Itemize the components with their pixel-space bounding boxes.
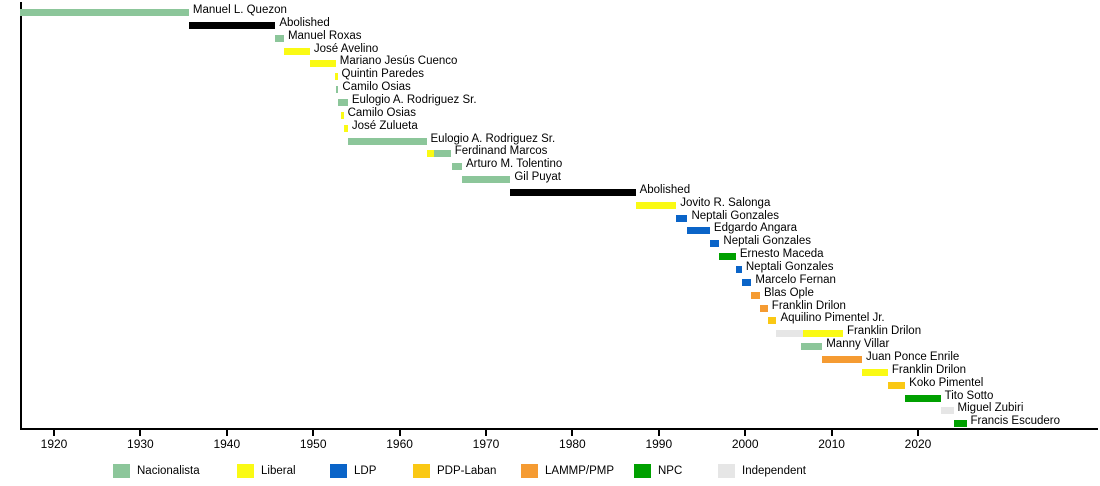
- senate-presidents-timeline-chart: Manuel L. QuezonAbolishedManuel RoxasJos…: [0, 0, 1100, 486]
- timeline-bar-row[interactable]: Manuel Roxas: [22, 32, 1098, 45]
- timeline-bar-segment[interactable]: [801, 343, 823, 350]
- x-axis-tick: [571, 430, 573, 436]
- legend-item[interactable]: LAMMP/PMP: [521, 462, 614, 480]
- timeline-bar-segment[interactable]: [452, 163, 462, 170]
- x-axis-tick: [831, 430, 833, 436]
- timeline-bar-segment[interactable]: [189, 22, 275, 29]
- legend-label: LAMMP/PMP: [545, 465, 614, 477]
- timeline-bar-segment[interactable]: [336, 86, 339, 93]
- timeline-bar-label: Franklin Drilon: [772, 300, 846, 313]
- legend-item[interactable]: LDP: [330, 462, 376, 480]
- timeline-bar-segment[interactable]: [275, 35, 284, 42]
- timeline-bar-segment[interactable]: [736, 266, 742, 273]
- x-axis-tick: [226, 430, 228, 436]
- legend-item[interactable]: Liberal: [237, 462, 296, 480]
- timeline-bar-label: Francis Escudero: [971, 415, 1060, 428]
- legend-label: PDP-Laban: [437, 465, 496, 477]
- timeline-bar-row[interactable]: Marcelo Fernan: [22, 276, 1098, 289]
- timeline-bar-segment[interactable]: [941, 407, 954, 414]
- timeline-bar-segment[interactable]: [768, 317, 777, 324]
- timeline-bar-segment[interactable]: [348, 138, 427, 145]
- timeline-bar-row[interactable]: Manuel L. Quezon: [22, 6, 1098, 19]
- timeline-bar-segment[interactable]: [954, 420, 967, 427]
- timeline-bar-row[interactable]: José Avelino: [22, 45, 1098, 58]
- timeline-bar-row[interactable]: José Zulueta: [22, 122, 1098, 135]
- legend-color-swatch: [330, 464, 347, 478]
- timeline-bar-label: Franklin Drilon: [892, 364, 966, 377]
- timeline-bar-segment[interactable]: [341, 112, 344, 119]
- timeline-bar-segment[interactable]: [822, 356, 862, 363]
- timeline-bar-segment[interactable]: [284, 48, 310, 55]
- x-axis-tick-label: 1940: [213, 437, 240, 451]
- timeline-bar-segment[interactable]: [710, 240, 720, 247]
- x-axis-tick-label: 1960: [386, 437, 413, 451]
- timeline-bar-row[interactable]: Neptali Gonzales: [22, 263, 1098, 276]
- timeline-bar-segment[interactable]: [862, 369, 888, 376]
- legend-item[interactable]: NPC: [634, 462, 682, 480]
- timeline-bar-row[interactable]: Miguel Zubiri: [22, 404, 1098, 417]
- timeline-bar-row[interactable]: Abolished: [22, 19, 1098, 32]
- timeline-bar-row[interactable]: Camilo Osias: [22, 109, 1098, 122]
- timeline-bar-row[interactable]: Franklin Drilon: [22, 327, 1098, 340]
- timeline-bar-label: Blas Ople: [764, 287, 814, 300]
- legend-color-swatch: [113, 464, 130, 478]
- timeline-bar-label: José Zulueta: [352, 120, 418, 133]
- legend-item[interactable]: Nacionalista: [113, 462, 200, 480]
- timeline-bar-row[interactable]: Gil Puyat: [22, 173, 1098, 186]
- chart-legend: NacionalistaLiberalLDPPDP-LabanLAMMP/PMP…: [0, 462, 1100, 482]
- x-axis-tick-label: 2000: [732, 437, 759, 451]
- timeline-bar-label: José Avelino: [314, 43, 378, 56]
- legend-label: LDP: [354, 465, 376, 477]
- x-axis-tick: [53, 430, 55, 436]
- timeline-bar-row[interactable]: Eulogio A. Rodriguez Sr.: [22, 96, 1098, 109]
- timeline-bar-row[interactable]: Edgardo Angara: [22, 224, 1098, 237]
- timeline-bar-label: Mariano Jesús Cuenco: [340, 55, 458, 68]
- timeline-bar-segment[interactable]: [636, 202, 677, 209]
- timeline-bar-segment[interactable]: [687, 227, 709, 234]
- timeline-bar-label: Manuel L. Quezon: [193, 4, 287, 17]
- timeline-bar-label: Edgardo Angara: [714, 222, 797, 235]
- timeline-bar-row[interactable]: Neptali Gonzales: [22, 212, 1098, 225]
- legend-item[interactable]: Independent: [718, 462, 806, 480]
- timeline-bar-label: Gil Puyat: [514, 171, 561, 184]
- timeline-bar-segment[interactable]: [434, 150, 450, 157]
- plot-area: Manuel L. QuezonAbolishedManuel RoxasJos…: [20, 2, 1098, 430]
- timeline-bar-segment[interactable]: [310, 60, 336, 67]
- timeline-bar-label: Arturo M. Tolentino: [466, 158, 562, 171]
- legend-color-swatch: [634, 464, 651, 478]
- legend-label: NPC: [658, 465, 682, 477]
- x-axis-tick: [658, 430, 660, 436]
- x-axis-tick-label: 1990: [645, 437, 672, 451]
- timeline-bar-segment[interactable]: [344, 125, 348, 132]
- timeline-bar-row[interactable]: Tito Sotto: [22, 392, 1098, 405]
- x-axis-tick-label: 1970: [473, 437, 500, 451]
- legend-item[interactable]: PDP-Laban: [413, 462, 496, 480]
- timeline-bar-label: Manny Villar: [826, 338, 889, 351]
- timeline-bar-label: Manuel Roxas: [288, 30, 362, 43]
- timeline-bar-segment[interactable]: [462, 176, 510, 183]
- timeline-bar-segment[interactable]: [905, 395, 940, 402]
- timeline-bar-row[interactable]: Jovito R. Salonga: [22, 199, 1098, 212]
- timeline-bar-segment[interactable]: [742, 279, 752, 286]
- timeline-bar-label: Juan Ponce Enrile: [866, 351, 959, 364]
- timeline-bar-segment[interactable]: [888, 382, 905, 389]
- timeline-bar-label: Abolished: [279, 17, 330, 30]
- timeline-bar-label: Jovito R. Salonga: [680, 197, 770, 210]
- timeline-bar-label: Miguel Zubiri: [958, 402, 1024, 415]
- timeline-bar-label: Eulogio A. Rodriguez Sr.: [431, 133, 556, 146]
- timeline-bar-row[interactable]: Quintin Paredes: [22, 70, 1098, 83]
- timeline-bar-label: Marcelo Fernan: [755, 274, 836, 287]
- legend-color-swatch: [718, 464, 735, 478]
- legend-color-swatch: [413, 464, 430, 478]
- timeline-bar-row[interactable]: Blas Ople: [22, 289, 1098, 302]
- timeline-bar-row[interactable]: Franklin Drilon: [22, 302, 1098, 315]
- timeline-bar-segment[interactable]: [335, 73, 338, 80]
- timeline-bar-row[interactable]: Koko Pimentel: [22, 379, 1098, 392]
- timeline-bar-label: Camilo Osias: [348, 107, 416, 120]
- x-axis-tick: [139, 430, 141, 436]
- legend-color-swatch: [521, 464, 538, 478]
- x-axis-tick: [485, 430, 487, 436]
- timeline-bar-segment[interactable]: [760, 305, 768, 312]
- x-axis-tick: [399, 430, 401, 436]
- timeline-bar-segment[interactable]: [510, 189, 635, 196]
- timeline-bar-row[interactable]: Aquilino Pimentel Jr.: [22, 314, 1098, 327]
- x-axis-tick: [917, 430, 919, 436]
- timeline-bar-segment[interactable]: [20, 9, 188, 16]
- legend-color-swatch: [237, 464, 254, 478]
- timeline-bar-label: Neptali Gonzales: [723, 235, 811, 248]
- x-axis-tick-label: 1930: [127, 437, 154, 451]
- timeline-bar-segment[interactable]: [776, 330, 803, 337]
- x-axis-tick-label: 2010: [818, 437, 845, 451]
- timeline-bar-segment[interactable]: [676, 215, 687, 222]
- timeline-bar-label: Camilo Osias: [342, 81, 410, 94]
- timeline-bar-label: Koko Pimentel: [909, 377, 983, 390]
- timeline-bar-label: Quintin Paredes: [342, 68, 424, 81]
- timeline-bar-row[interactable]: Ernesto Maceda: [22, 250, 1098, 263]
- timeline-bar-segment[interactable]: [719, 253, 735, 260]
- x-axis-tick-label: 1920: [41, 437, 68, 451]
- timeline-bar-label: Franklin Drilon: [847, 325, 921, 338]
- timeline-bar-label: Ferdinand Marcos: [455, 145, 548, 158]
- timeline-bar-row[interactable]: Eulogio A. Rodriguez Sr.: [22, 135, 1098, 148]
- timeline-bar-segment[interactable]: [751, 292, 760, 299]
- timeline-bar-label: Neptali Gonzales: [746, 261, 834, 274]
- legend-label: Nacionalista: [137, 465, 200, 477]
- legend-label: Liberal: [261, 465, 296, 477]
- timeline-bar-label: Ernesto Maceda: [740, 248, 824, 261]
- timeline-bar-row[interactable]: Mariano Jesús Cuenco: [22, 57, 1098, 70]
- timeline-bar-row[interactable]: Abolished: [22, 186, 1098, 199]
- x-axis-tick: [312, 430, 314, 436]
- timeline-bar-segment[interactable]: [803, 330, 843, 337]
- timeline-bar-label: Neptali Gonzales: [691, 210, 779, 223]
- timeline-bar-row[interactable]: Camilo Osias: [22, 83, 1098, 96]
- legend-label: Independent: [742, 465, 806, 477]
- timeline-bar-label: Abolished: [640, 184, 691, 197]
- timeline-bar-label: Eulogio A. Rodriguez Sr.: [352, 94, 477, 107]
- timeline-bar-label: Aquilino Pimentel Jr.: [780, 312, 884, 325]
- x-axis-tick-label: 2020: [905, 437, 932, 451]
- timeline-bar-row[interactable]: Neptali Gonzales: [22, 237, 1098, 250]
- x-axis-tick-label: 1950: [300, 437, 327, 451]
- x-axis-tick: [744, 430, 746, 436]
- timeline-bar-row[interactable]: Francis Escudero: [22, 417, 1098, 430]
- x-axis-tick-label: 1980: [559, 437, 586, 451]
- timeline-bar-label: Tito Sotto: [945, 390, 994, 403]
- timeline-bar-segment[interactable]: [427, 150, 435, 157]
- timeline-bar-segment[interactable]: [338, 99, 348, 106]
